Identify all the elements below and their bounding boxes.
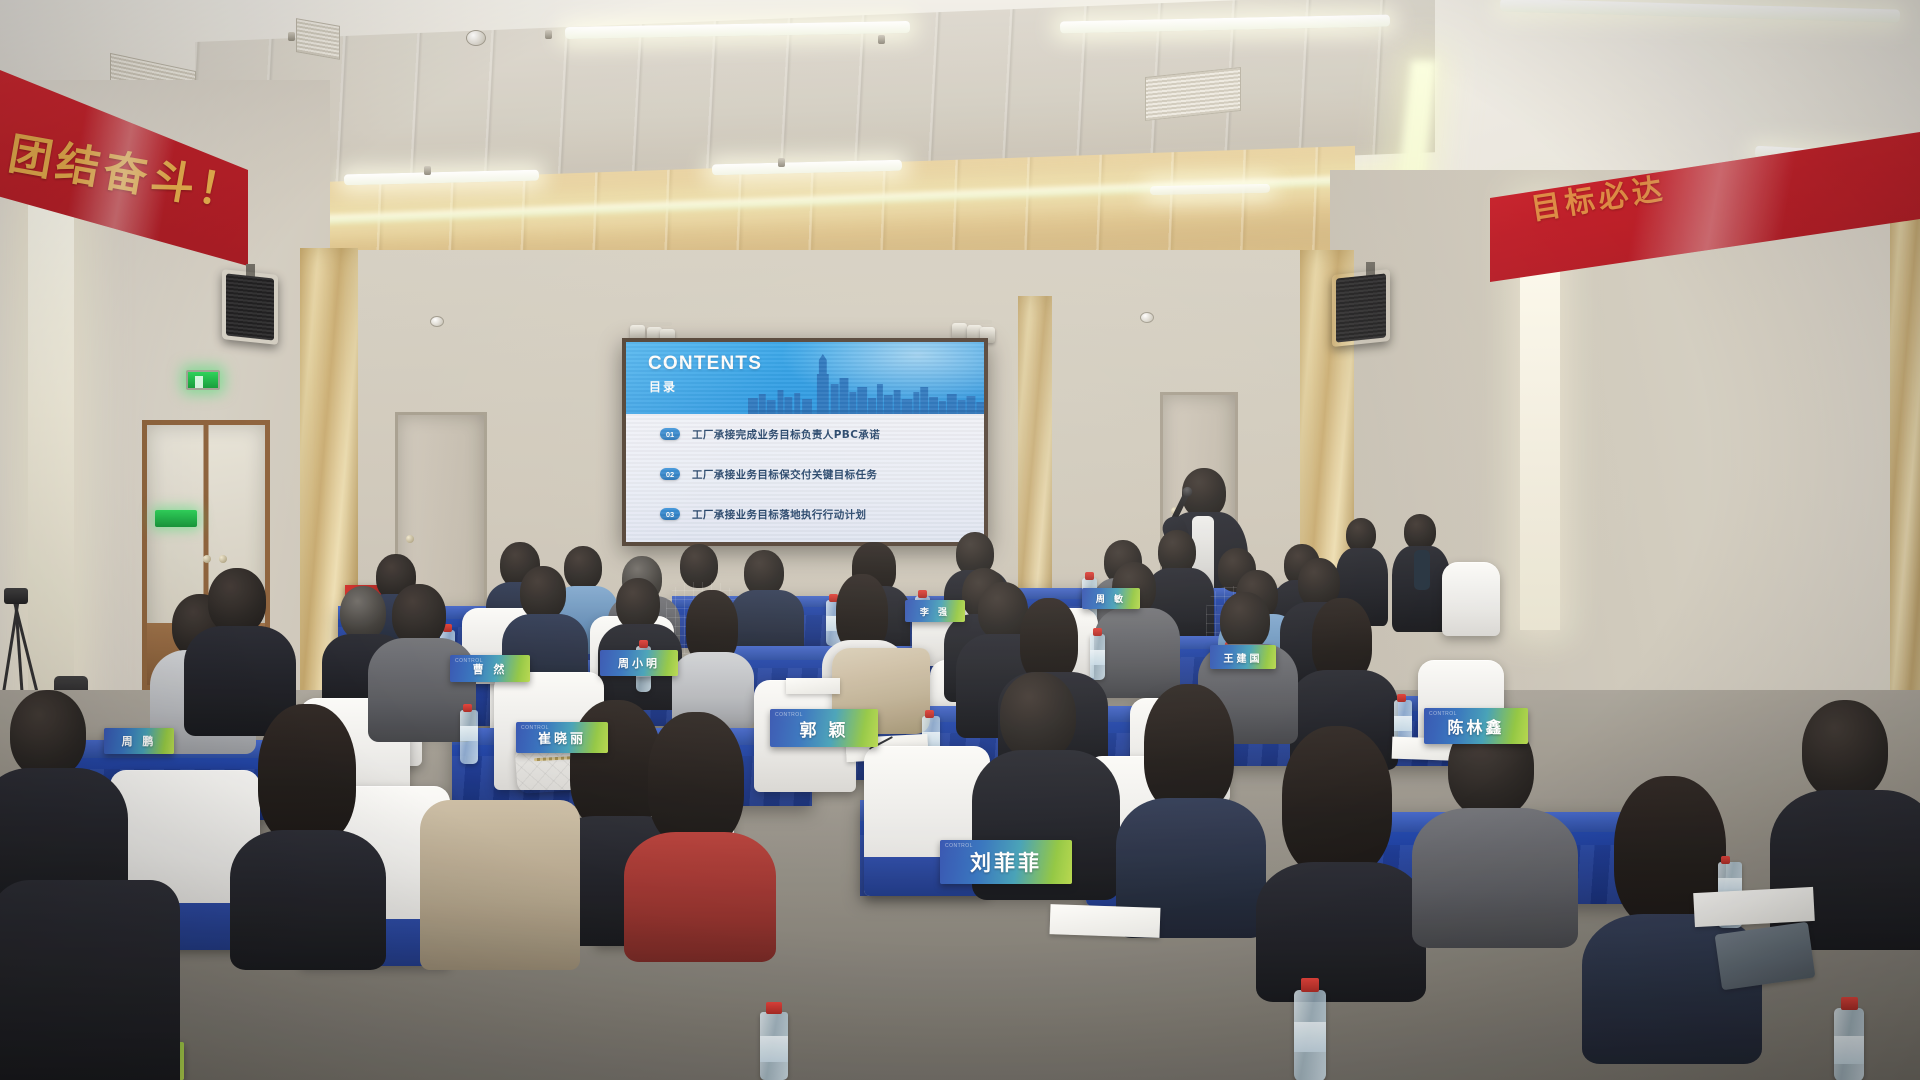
water-bottle-icon [1834, 1008, 1864, 1080]
sprinkler-icon [424, 166, 431, 175]
gold-wall-pilaster [1890, 190, 1920, 710]
name-card: 周 鹏 [104, 728, 174, 754]
card-brand-label: CONTROL [945, 843, 973, 849]
loudspeaker-icon [1332, 269, 1390, 347]
chair [1442, 562, 1500, 636]
toc-number-badge: 03 [660, 508, 680, 520]
slide-contents-list: 01 工厂承接完成业务目标负责人PBC承诺 02 工厂承接业务目标保交付关键目标… [626, 414, 984, 542]
name-card: 王建国 [1210, 645, 1276, 669]
name-card-text: 周小明 [618, 655, 660, 671]
name-card-text: 王建国 [1224, 650, 1263, 665]
card-brand-label: CONTROL [775, 712, 803, 718]
emergency-exit-icon [186, 370, 220, 390]
sprinkler-icon [878, 35, 885, 44]
screen-surface: CONTENTS 目录 01 工厂承接完成业务目标负责人PBC承诺 02 工厂承… [626, 342, 984, 542]
sprinkler-icon [545, 30, 552, 39]
track-spotlight-icon [952, 323, 967, 339]
slide-header: CONTENTS 目录 [626, 342, 984, 414]
paper-sheet [786, 678, 840, 694]
name-card: 周 敏 [1082, 588, 1140, 609]
list-item: 01 工厂承接完成业务目标负责人PBC承诺 [626, 414, 984, 454]
card-brand-label: CONTROL [521, 725, 549, 731]
smoke-detector-icon [466, 30, 486, 46]
list-item: 02 工厂承接业务目标保交付关键目标任务 [626, 454, 984, 494]
projection-screen: CONTENTS 目录 01 工厂承接完成业务目标负责人PBC承诺 02 工厂承… [622, 338, 988, 546]
name-card-text: 陈林鑫 [1447, 714, 1504, 738]
toc-number-badge: 01 [660, 428, 680, 440]
city-skyline-graphic [748, 354, 984, 414]
name-card: CONTROL 曹 然 [450, 655, 530, 682]
toc-number-badge: 02 [660, 468, 680, 480]
toc-item-label: 工厂承接业务目标保交付关键目标任务 [692, 467, 877, 482]
door-handle[interactable] [219, 555, 227, 563]
water-bottle-icon [1294, 990, 1326, 1080]
water-bottle-icon [1090, 634, 1105, 680]
emergency-exit-icon [155, 510, 197, 527]
name-card: 周小明 [600, 650, 678, 676]
paper-sheet [1693, 887, 1815, 927]
name-card-text: 李 强 [920, 605, 950, 618]
card-brand-label: CONTROL [1429, 711, 1457, 717]
toc-item-label: 工厂承接业务目标落地执行行动计划 [692, 507, 866, 522]
door-handle[interactable] [406, 535, 414, 543]
name-card-text: 周 鹏 [122, 733, 157, 749]
list-item: 03 工厂承接业务目标落地执行行动计划 [626, 494, 984, 534]
downlight-icon [1140, 312, 1154, 323]
water-bottle-icon [460, 710, 478, 764]
name-card-text: 刘菲菲 [970, 847, 1042, 877]
name-card: 李 强 [905, 600, 965, 622]
toc-item-label: 工厂承接完成业务目标负责人PBC承诺 [692, 427, 880, 442]
camera-head [4, 588, 28, 604]
water-bottle-icon [760, 1012, 788, 1080]
slide-subtitle: 目录 [649, 378, 677, 395]
paper-sheet [1050, 904, 1161, 938]
downlight-icon [430, 316, 444, 327]
meeting-room-photo: 团结奋斗！ 目标必达 消防 [0, 0, 1920, 1080]
name-card-text: 郭 颖 [800, 716, 849, 741]
name-card: CONTROL 陈林鑫 [1424, 708, 1528, 744]
card-brand-label: CONTROL [455, 658, 483, 664]
wall-light-slot [28, 185, 74, 745]
door-handle[interactable] [203, 555, 211, 563]
name-card: CONTROL 崔晓丽 [516, 722, 608, 753]
sprinkler-icon [288, 32, 295, 41]
name-card-text: 周 敏 [1096, 592, 1126, 605]
loudspeaker-icon [222, 269, 278, 345]
name-card: CONTROL 郭 颖 [770, 709, 878, 747]
sprinkler-icon [778, 158, 785, 167]
slide-title: CONTENTS [648, 353, 762, 375]
name-card: CONTROL 刘菲菲 [940, 840, 1072, 884]
